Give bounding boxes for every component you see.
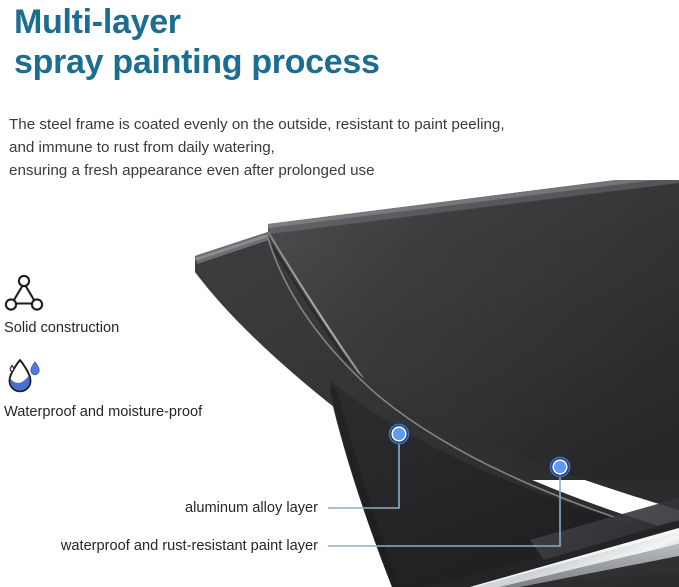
- page-title: Multi-layer spray painting process: [14, 2, 654, 82]
- page-title-line-2: spray painting process: [14, 42, 654, 82]
- water-droplet-icon: [4, 356, 44, 398]
- description-paragraph: The steel frame is coated evenly on the …: [9, 113, 669, 182]
- page-title-line-1: Multi-layer: [14, 2, 654, 42]
- description-line-1: The steel frame is coated evenly on the …: [9, 113, 669, 136]
- product-feature-slide: Multi-layer spray painting process The s…: [0, 0, 679, 587]
- callout-label-paint-layer: waterproof and rust-resistant paint laye…: [0, 537, 318, 555]
- triangle-nodes-icon: [4, 272, 44, 314]
- feature-solid-construction: Solid construction: [4, 272, 119, 337]
- feature-label: Waterproof and moisture-proof: [4, 403, 202, 421]
- callout-label-aluminum-alloy-layer: aluminum alloy layer: [0, 499, 318, 517]
- description-line-2: and immune to rust from daily watering,: [9, 136, 669, 159]
- feature-waterproof: Waterproof and moisture-proof: [4, 356, 202, 421]
- description-line-3: ensuring a fresh appearance even after p…: [9, 159, 669, 182]
- feature-label: Solid construction: [4, 319, 119, 337]
